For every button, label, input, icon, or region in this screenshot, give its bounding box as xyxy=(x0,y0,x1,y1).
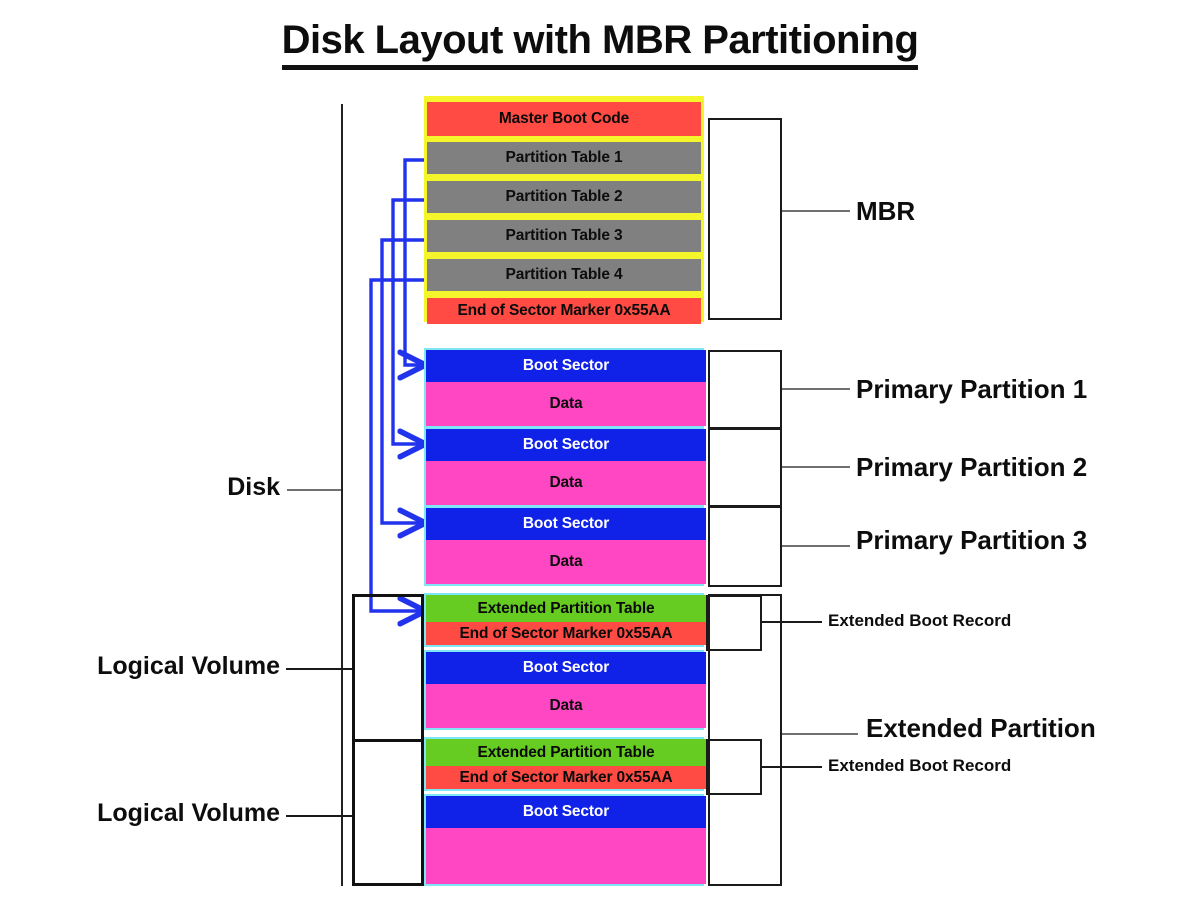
primary-partition-3-group: Boot Sector Data xyxy=(424,506,704,586)
bracket-extended-boot-record-1 xyxy=(706,595,762,651)
mbr-row-partition-table-4: Partition Table 4 xyxy=(427,259,701,291)
leader-logical-volume-1 xyxy=(286,668,352,670)
label-primary-partition-2: Primary Partition 2 xyxy=(856,452,1087,483)
leader-extended-partition xyxy=(782,733,858,735)
bracket-disk xyxy=(341,104,343,886)
bracket-extended-boot-record-2 xyxy=(706,739,762,795)
ebr-1-extended-partition-table: Extended Partition Table xyxy=(426,595,706,622)
label-extended-partition: Extended Partition xyxy=(866,713,1096,744)
mbr-row-partition-table-2: Partition Table 2 xyxy=(427,181,701,213)
logical-2-data xyxy=(426,828,706,884)
mbr-row-master-boot-code: Master Boot Code xyxy=(427,102,701,136)
primary-1-boot-sector: Boot Sector xyxy=(426,350,706,382)
primary-partition-2-group: Boot Sector Data xyxy=(424,427,704,507)
bracket-primary-partition-1 xyxy=(708,350,782,429)
bracket-primary-partition-2 xyxy=(708,428,782,507)
primary-2-data: Data xyxy=(426,461,706,505)
label-mbr: MBR xyxy=(856,196,915,227)
leader-extended-boot-record-1 xyxy=(762,621,822,623)
bracket-logical-volume-2 xyxy=(352,739,424,886)
disk-column: Master Boot Code Partition Table 1 Parti… xyxy=(424,96,704,886)
bracket-mbr xyxy=(708,118,782,320)
leader-extended-boot-record-2 xyxy=(762,766,822,768)
primary-2-boot-sector: Boot Sector xyxy=(426,429,706,461)
primary-partition-1-group: Boot Sector Data xyxy=(424,348,704,428)
primary-3-data: Data xyxy=(426,540,706,584)
label-extended-boot-record-1: Extended Boot Record xyxy=(828,611,1011,631)
extended-boot-record-2-group: Extended Partition Table End of Sector M… xyxy=(424,737,704,791)
mbr-row-end-of-sector-marker: End of Sector Marker 0x55AA xyxy=(427,298,701,324)
logical-1-boot-sector: Boot Sector xyxy=(426,652,706,684)
label-primary-partition-3: Primary Partition 3 xyxy=(856,525,1087,556)
label-extended-boot-record-2: Extended Boot Record xyxy=(828,756,1011,776)
mbr-group: Master Boot Code Partition Table 1 Parti… xyxy=(424,96,704,322)
leader-primary-partition-1 xyxy=(782,388,850,390)
bracket-logical-volume-1 xyxy=(352,594,424,742)
label-logical-volume-1: Logical Volume xyxy=(62,652,280,681)
ebr-1-end-of-sector-marker: End of Sector Marker 0x55AA xyxy=(426,622,706,645)
primary-1-data: Data xyxy=(426,382,706,426)
label-disk: Disk xyxy=(188,473,280,502)
logical-volume-2-partition-group: Boot Sector xyxy=(424,794,704,886)
leader-primary-partition-3 xyxy=(782,545,850,547)
leader-disk xyxy=(287,489,341,491)
leader-mbr xyxy=(782,210,850,212)
primary-3-boot-sector: Boot Sector xyxy=(426,508,706,540)
ebr-2-end-of-sector-marker: End of Sector Marker 0x55AA xyxy=(426,766,706,789)
bracket-primary-partition-3 xyxy=(708,506,782,587)
mbr-row-partition-table-3: Partition Table 3 xyxy=(427,220,701,252)
logical-volume-1-partition-group: Boot Sector Data xyxy=(424,650,704,730)
extended-boot-record-1-group: Extended Partition Table End of Sector M… xyxy=(424,593,704,647)
leader-primary-partition-2 xyxy=(782,466,850,468)
ebr-2-extended-partition-table: Extended Partition Table xyxy=(426,739,706,766)
leader-logical-volume-2 xyxy=(286,815,352,817)
label-primary-partition-1: Primary Partition 1 xyxy=(856,374,1087,405)
logical-1-data: Data xyxy=(426,684,706,728)
mbr-row-partition-table-1: Partition Table 1 xyxy=(427,142,701,174)
label-logical-volume-2: Logical Volume xyxy=(62,799,280,828)
logical-2-boot-sector: Boot Sector xyxy=(426,796,706,828)
